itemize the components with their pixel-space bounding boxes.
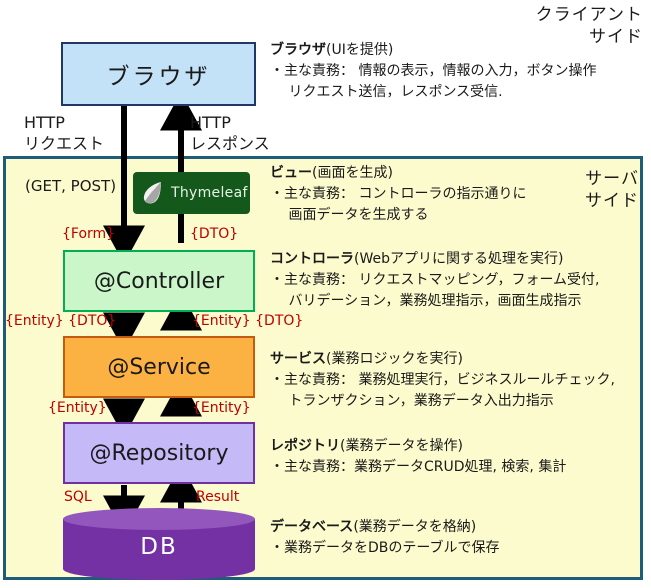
node-browser[interactable]: ブラウザ (61, 42, 256, 106)
description-view-title: ビュー (270, 165, 312, 181)
description-service: サービス(業務ロジックを実行) ・主な責務： 業務処理実行，ビジネスルールチェッ… (270, 349, 615, 412)
flow-label-http-request: HTTP リクエスト (24, 112, 104, 154)
description-repository-body: ・主な責務：業務データCRUD処理, 検索, 集計 (270, 457, 566, 478)
description-repository: レポジトリ(業務データを操作) ・主な責務：業務データCRUD処理, 検索, 集… (270, 436, 566, 478)
description-database-subtitle: (業務データを格納) (353, 519, 476, 535)
description-browser-body: ・主な責務： 情報の表示，情報の入力，ボタン操作 リクエスト送信，レスポンス受信… (270, 61, 596, 103)
flow-label-http-response: HTTP レスポンス (190, 112, 270, 154)
node-controller[interactable]: @Controller (63, 250, 255, 312)
description-database-title: データベース (270, 519, 353, 535)
node-thymeleaf[interactable]: Thymeleaf (133, 172, 250, 214)
flow-label-dto: {DTO} (190, 226, 238, 242)
description-browser: ブラウザ(UIを提供) ・主な責務： 情報の表示，情報の入力，ボタン操作 リクエ… (270, 40, 596, 103)
description-service-title: サービス (270, 351, 326, 367)
description-database: データベース(業務データを格納) ・業務データをDBのテーブルで保存 (270, 517, 500, 559)
node-service[interactable]: @Service (63, 336, 255, 398)
flow-label-entity-dto-up: {Entity} {DTO} (192, 313, 303, 329)
node-database[interactable]: DB (63, 508, 255, 580)
description-browser-subtitle: (UIを提供) (326, 42, 393, 58)
flow-label-form: {Form} (62, 226, 115, 242)
node-repository[interactable]: @Repository (63, 422, 255, 484)
flow-label-entity-dto-down: {Entity} {DTO} (5, 313, 116, 329)
flow-label-sql: SQL (64, 489, 92, 505)
description-service-body: ・主な責務： 業務処理実行，ビジネスルールチェック, トランザクション，業務デー… (270, 370, 615, 412)
flow-label-get-post: (GET, POST) (25, 177, 116, 195)
description-browser-title: ブラウザ (270, 42, 326, 58)
description-controller: コントローラ(Webアプリに関する処理を実行) ・主な責務： リクエストマッピン… (270, 249, 600, 312)
flow-label-entity-down: {Entity} (48, 400, 107, 416)
description-controller-body: ・主な責務： リクエストマッピング，フォーム受付, バリデーション，業務処理指示… (270, 270, 600, 312)
node-repository-label: @Repository (90, 441, 229, 466)
description-repository-subtitle: (業務データを操作) (340, 438, 463, 454)
architecture-diagram: クライアント サイド サーバ サイド ブラウザ (0, 0, 651, 588)
description-repository-title: レポジトリ (270, 438, 340, 454)
node-thymeleaf-label: Thymeleaf (171, 185, 248, 201)
server-side-label: サーバ サイド (519, 168, 639, 212)
node-database-label: DB (63, 522, 255, 572)
description-database-body: ・業務データをDBのテーブルで保存 (270, 538, 500, 559)
description-service-subtitle: (業務ロジックを実行) (326, 351, 463, 367)
description-view-body: ・主な責務： コントローラの指示通りに 画面データを生成する (270, 184, 526, 226)
node-controller-label: @Controller (94, 269, 224, 294)
description-view-subtitle: (画面を生成) (312, 165, 393, 181)
description-controller-subtitle: (Webアプリに関する処理を実行) (354, 251, 563, 267)
flow-label-result: Result (196, 489, 239, 505)
node-service-label: @Service (107, 355, 210, 380)
description-view: ビュー(画面を生成) ・主な責務： コントローラの指示通りに 画面データを生成す… (270, 163, 526, 226)
thymeleaf-leaf-icon (141, 180, 165, 206)
node-browser-label: ブラウザ (107, 57, 211, 91)
description-controller-title: コントローラ (270, 251, 354, 267)
flow-label-entity-up: {Entity} (192, 400, 251, 416)
